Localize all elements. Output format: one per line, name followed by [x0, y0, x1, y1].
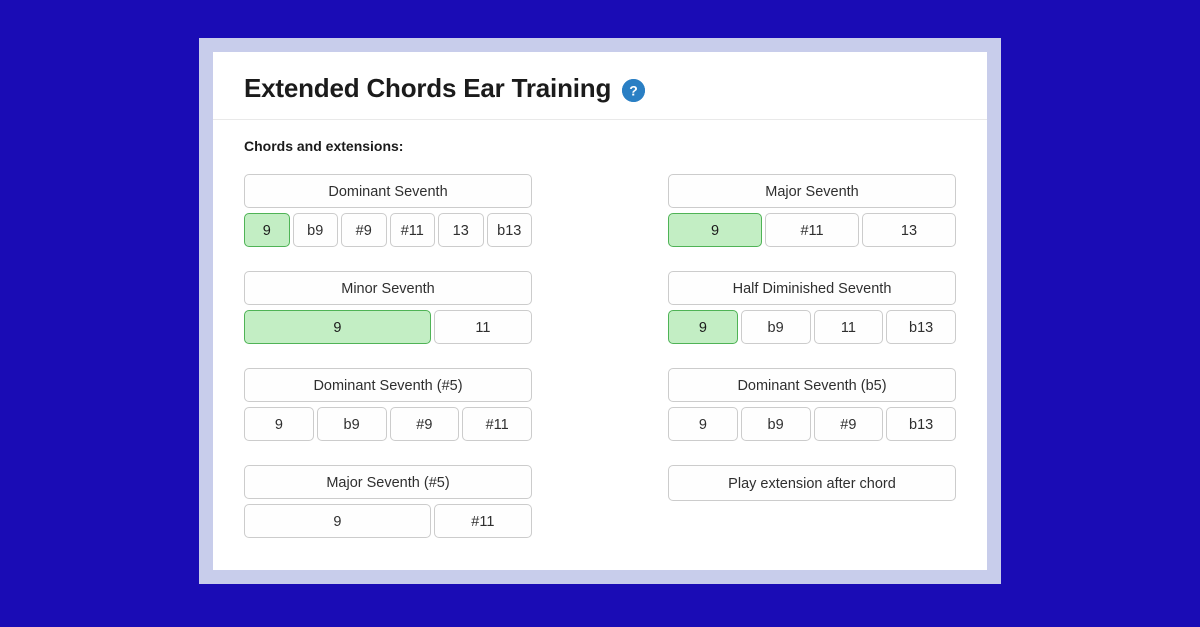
- chord-group-dominant-seventh: Dominant Seventh9b9#9#1113b13: [244, 174, 532, 247]
- extension-row: 9b9#9#1113b13: [244, 213, 532, 247]
- extension-button-dominant-seventh-b5-b9[interactable]: b9: [741, 407, 811, 441]
- extension-button-minor-seventh-9[interactable]: 9: [244, 310, 431, 344]
- chord-group-dominant-seventh-5: Dominant Seventh (#5)9b9#9#11: [244, 368, 532, 441]
- chord-group-dominant-seventh-b5: Dominant Seventh (b5)9b9#9b13: [668, 368, 956, 441]
- extension-button-half-diminished-seventh-b13[interactable]: b13: [886, 310, 956, 344]
- section-label: Chords and extensions:: [244, 138, 956, 154]
- extension-row: 9b9#9#11: [244, 407, 532, 441]
- chord-group-major-seventh: Major Seventh9#1113: [668, 174, 956, 247]
- extension-button-minor-seventh-11[interactable]: 11: [434, 310, 532, 344]
- chord-name-button-dominant-seventh[interactable]: Dominant Seventh: [244, 174, 532, 208]
- page-title: Extended Chords Ear Training: [244, 74, 611, 103]
- title-row: Extended Chords Ear Training ?: [244, 74, 956, 103]
- chord-column-right: Major Seventh9#1113Half Diminished Seven…: [668, 174, 956, 562]
- card-frame: Extended Chords Ear Training ? Chords an…: [199, 38, 1001, 584]
- chord-name-button-dominant-seventh-b5[interactable]: Dominant Seventh (b5): [668, 368, 956, 402]
- extension-button-dominant-seventh-b5-9[interactable]: #9: [814, 407, 884, 441]
- question-mark-circle-icon[interactable]: ?: [622, 79, 645, 102]
- extension-row: 9#1113: [668, 213, 956, 247]
- chord-group-half-diminished-seventh: Half Diminished Seventh9b911b13: [668, 271, 956, 344]
- extension-button-half-diminished-seventh-9[interactable]: 9: [668, 310, 738, 344]
- chord-name-button-minor-seventh[interactable]: Minor Seventh: [244, 271, 532, 305]
- chord-columns: Dominant Seventh9b9#9#1113b13Minor Seven…: [244, 174, 956, 562]
- extension-button-dominant-seventh-9[interactable]: 9: [244, 213, 290, 247]
- chord-name-button-half-diminished-seventh[interactable]: Half Diminished Seventh: [668, 271, 956, 305]
- extension-button-dominant-seventh-b13[interactable]: b13: [487, 213, 533, 247]
- extension-button-major-seventh-11[interactable]: #11: [765, 213, 859, 247]
- extension-button-major-seventh-5-9[interactable]: 9: [244, 504, 431, 538]
- extension-button-dominant-seventh-b5-9[interactable]: 9: [668, 407, 738, 441]
- extension-button-dominant-seventh-b5-b13[interactable]: b13: [886, 407, 956, 441]
- card: Extended Chords Ear Training ? Chords an…: [213, 52, 987, 570]
- extension-row: 911: [244, 310, 532, 344]
- chord-name-button-dominant-seventh-5[interactable]: Dominant Seventh (#5): [244, 368, 532, 402]
- chord-column-left: Dominant Seventh9b9#9#1113b13Minor Seven…: [244, 174, 532, 562]
- extension-button-major-seventh-9[interactable]: 9: [668, 213, 762, 247]
- card-body: Chords and extensions: Dominant Seventh9…: [213, 120, 987, 562]
- extension-button-half-diminished-seventh-b9[interactable]: b9: [741, 310, 811, 344]
- page-root: Extended Chords Ear Training ? Chords an…: [0, 0, 1200, 627]
- play-extension-after-chord-button[interactable]: Play extension after chord: [668, 465, 956, 501]
- chord-name-button-major-seventh[interactable]: Major Seventh: [668, 174, 956, 208]
- extension-button-dominant-seventh-9[interactable]: #9: [341, 213, 387, 247]
- extension-button-half-diminished-seventh-11[interactable]: 11: [814, 310, 884, 344]
- extension-button-dominant-seventh-13[interactable]: 13: [438, 213, 484, 247]
- extension-button-dominant-seventh-b9[interactable]: b9: [293, 213, 339, 247]
- chord-name-button-major-seventh-5[interactable]: Major Seventh (#5): [244, 465, 532, 499]
- card-header: Extended Chords Ear Training ?: [213, 52, 987, 120]
- chord-group-minor-seventh: Minor Seventh911: [244, 271, 532, 344]
- extension-button-dominant-seventh-5-b9[interactable]: b9: [317, 407, 387, 441]
- extension-button-dominant-seventh-11[interactable]: #11: [390, 213, 436, 247]
- extension-row: 9#11: [244, 504, 532, 538]
- extension-row: 9b911b13: [668, 310, 956, 344]
- svg-text:?: ?: [629, 82, 638, 98]
- extension-row: 9b9#9b13: [668, 407, 956, 441]
- extension-button-dominant-seventh-5-9[interactable]: #9: [390, 407, 460, 441]
- extension-button-major-seventh-13[interactable]: 13: [862, 213, 956, 247]
- extension-button-dominant-seventh-5-11[interactable]: #11: [462, 407, 532, 441]
- extension-button-dominant-seventh-5-9[interactable]: 9: [244, 407, 314, 441]
- chord-group-major-seventh-5: Major Seventh (#5)9#11: [244, 465, 532, 538]
- extension-button-major-seventh-5-11[interactable]: #11: [434, 504, 532, 538]
